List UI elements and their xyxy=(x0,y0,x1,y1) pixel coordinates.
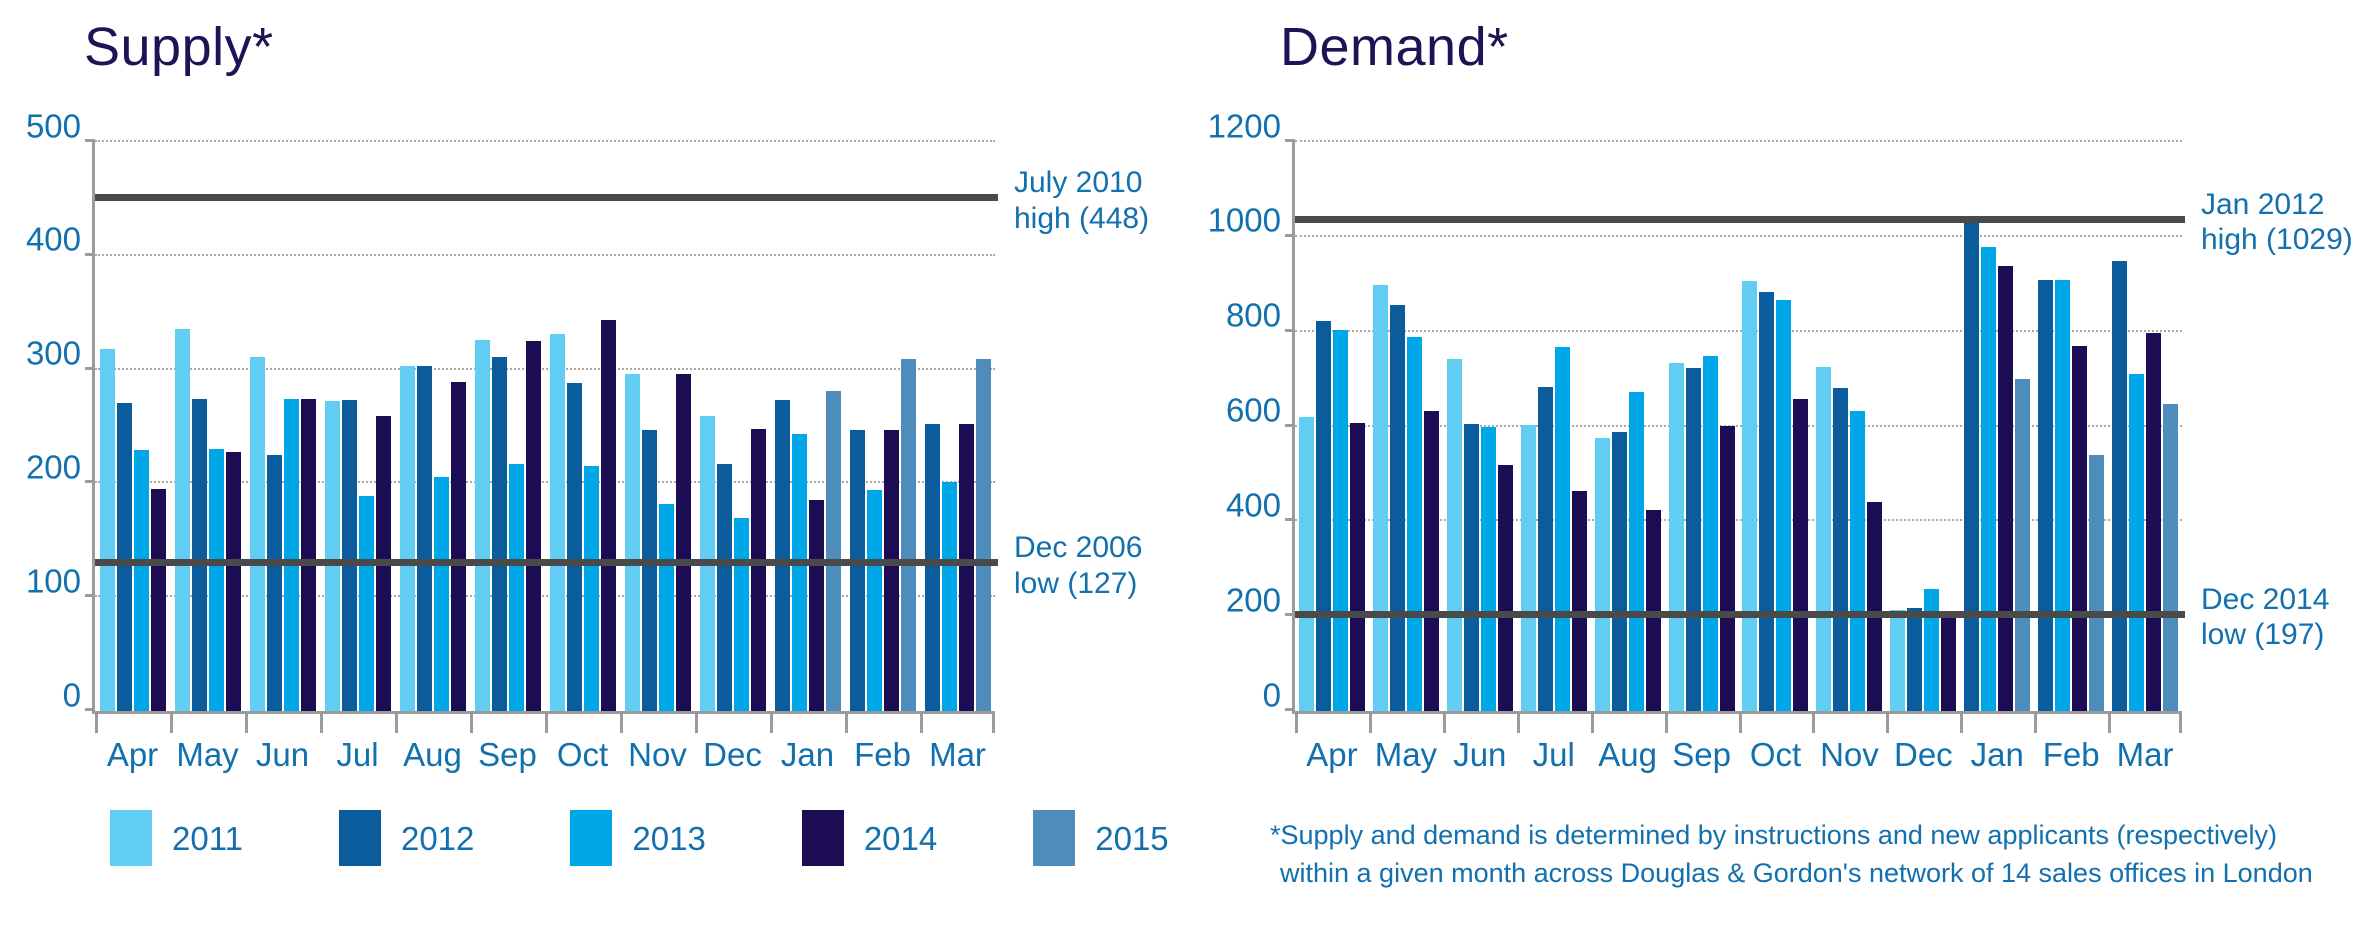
x-axis-tick-mark xyxy=(545,711,620,733)
bar-2011-Jul xyxy=(1521,425,1536,711)
bar-2011-Sep xyxy=(1669,363,1684,711)
bar-2014-Apr xyxy=(1350,423,1365,711)
y-axis-tick-label: 1200 xyxy=(1208,109,1281,142)
bar-group xyxy=(1369,142,1443,711)
bar-2013-Feb xyxy=(2055,280,2070,711)
bar-2012-Dec xyxy=(1907,608,1922,711)
bar-group xyxy=(1591,142,1665,711)
bar-2012-Aug xyxy=(1612,432,1627,711)
charts-page: Supply* 0100200300400500 AprMayJunJulAug… xyxy=(0,0,2357,952)
bar-group xyxy=(1960,142,2034,711)
bar-group xyxy=(920,142,995,711)
bar-2013-Oct xyxy=(1776,300,1791,711)
supply-ref-high-label: July 2010 high (448) xyxy=(1014,165,1149,236)
y-axis-tick-label: 100 xyxy=(26,564,81,597)
legend-swatch-2015 xyxy=(1033,810,1075,866)
legend-swatch-2013 xyxy=(570,810,612,866)
y-axis-tick-label: 400 xyxy=(26,223,81,256)
x-axis-tick-mark xyxy=(245,711,320,733)
bar-2014-Dec xyxy=(751,429,766,711)
x-axis-tick-mark xyxy=(770,711,845,733)
supply-x-labels: AprMayJunJulAugSepOctNovDecJanFebMar xyxy=(95,737,995,773)
supply-chart-title: Supply* xyxy=(84,16,274,78)
legend-swatch-2011 xyxy=(110,810,152,866)
demand-chart-title: Demand* xyxy=(1280,16,1509,78)
demand-ref-low-line2: low (197) xyxy=(2201,618,2324,651)
bar-2014-Nov xyxy=(676,374,691,711)
bar-2012-Nov xyxy=(1833,388,1848,711)
bar-2013-Nov xyxy=(1850,411,1865,711)
bar-2011-Sep xyxy=(475,340,490,711)
x-axis-tick-mark xyxy=(1295,711,1369,733)
bar-group xyxy=(1443,142,1517,711)
bar-2011-Dec xyxy=(1890,610,1905,711)
y-axis-tick-mark xyxy=(85,253,95,256)
x-axis-tick-mark xyxy=(395,711,470,733)
y-axis-tick-mark xyxy=(85,708,95,711)
supply-ref-low-line2: low (127) xyxy=(1014,567,1137,600)
x-axis-tick-mark xyxy=(170,711,245,733)
x-axis-label-Apr: Apr xyxy=(1295,737,1369,773)
x-axis-label-Sep: Sep xyxy=(470,737,545,773)
legend-label-2014: 2014 xyxy=(864,822,937,855)
x-axis-tick-mark xyxy=(1886,711,1960,733)
bar-2014-May xyxy=(1424,411,1439,711)
supply-bar-groups xyxy=(95,142,995,711)
y-axis-tick-mark xyxy=(85,594,95,597)
bar-2012-Sep xyxy=(1686,368,1701,711)
x-axis-tick-mark xyxy=(2108,711,2182,733)
supply-panel: Supply* 0100200300400500 AprMayJunJulAug… xyxy=(0,0,1180,952)
y-axis-tick-mark xyxy=(1285,518,1295,521)
x-axis-label-Jun: Jun xyxy=(245,737,320,773)
bar-2015-Mar xyxy=(2163,404,2178,711)
x-axis-tick-mark xyxy=(695,711,770,733)
legend-swatch-2012 xyxy=(339,810,381,866)
bar-2011-Jul xyxy=(325,401,340,711)
y-axis-tick-label: 800 xyxy=(1226,299,1281,332)
supply-plot-area: 0100200300400500 AprMayJunJulAugSepOctNo… xyxy=(92,142,995,714)
legend-item-2013[interactable]: 2013 xyxy=(570,810,705,866)
bar-2013-Mar xyxy=(2129,374,2144,711)
x-axis-tick-mark xyxy=(2034,711,2108,733)
bar-2013-Sep xyxy=(1703,356,1718,711)
x-axis-label-May: May xyxy=(1369,737,1443,773)
bar-group xyxy=(245,142,320,711)
bar-group xyxy=(320,142,395,711)
bar-group xyxy=(770,142,845,711)
bar-2015-Jan xyxy=(2015,379,2030,711)
legend-item-2011[interactable]: 2011 xyxy=(110,810,243,866)
bar-group xyxy=(1886,142,1960,711)
x-axis-tick-mark xyxy=(1591,711,1665,733)
bar-2013-Apr xyxy=(134,450,149,711)
supply-ref-low-label: Dec 2006 low (127) xyxy=(1014,530,1142,601)
demand-bar-groups xyxy=(1295,142,2182,711)
x-axis-label-Oct: Oct xyxy=(545,737,620,773)
x-axis-tick-mark xyxy=(470,711,545,733)
y-axis-tick-label: 300 xyxy=(26,337,81,370)
x-axis-tick-mark xyxy=(845,711,920,733)
bar-group xyxy=(1739,142,1813,711)
demand-ref-high-label: Jan 2012 high (1029) xyxy=(2201,187,2353,258)
bar-2013-May xyxy=(209,449,224,711)
bar-2014-Jan xyxy=(1998,266,2013,711)
bar-2011-Nov xyxy=(625,374,640,711)
legend-item-2014[interactable]: 2014 xyxy=(802,810,937,866)
bar-2014-Sep xyxy=(526,341,541,711)
legend-item-2012[interactable]: 2012 xyxy=(339,810,474,866)
x-axis-label-Jan: Jan xyxy=(1960,737,2034,773)
bar-2011-Jun xyxy=(1447,359,1462,711)
bar-2013-Aug xyxy=(434,477,449,711)
bar-2012-Jan xyxy=(775,400,790,711)
demand-ref-high-line2: high (1029) xyxy=(2201,223,2353,256)
bar-2011-Apr xyxy=(1299,417,1314,711)
supply-ref-high-line2: high (448) xyxy=(1014,202,1149,235)
x-axis-label-Dec: Dec xyxy=(1886,737,1960,773)
bar-group xyxy=(1812,142,1886,711)
x-axis-label-Feb: Feb xyxy=(2034,737,2108,773)
bar-group xyxy=(1517,142,1591,711)
bar-2012-Jun xyxy=(267,455,282,711)
year-legend: 20112012201320142015 xyxy=(110,810,1265,866)
bar-group xyxy=(95,142,170,711)
bar-2013-Dec xyxy=(734,518,749,711)
bar-2012-Jan xyxy=(1964,223,1979,711)
bar-group xyxy=(2034,142,2108,711)
bar-2013-Jul xyxy=(1555,347,1570,711)
bar-2014-Dec xyxy=(1941,618,1956,711)
bar-group xyxy=(395,142,470,711)
y-axis-tick-mark xyxy=(85,480,95,483)
x-axis-label-Dec: Dec xyxy=(695,737,770,773)
bar-2012-Dec xyxy=(717,464,732,711)
legend-label-2011: 2011 xyxy=(172,822,243,855)
y-axis-tick-mark xyxy=(1285,234,1295,237)
bar-2013-Sep xyxy=(509,464,524,711)
bar-2012-Aug xyxy=(417,366,432,711)
bar-2012-Jul xyxy=(342,400,357,711)
legend-swatch-2014 xyxy=(802,810,844,866)
legend-label-2012: 2012 xyxy=(401,822,474,855)
x-axis-tick-mark xyxy=(1369,711,1443,733)
y-axis-tick-label: 0 xyxy=(1263,678,1281,711)
supply-reference-line-high xyxy=(95,194,998,201)
x-axis-label-May: May xyxy=(170,737,245,773)
x-axis-tick-mark xyxy=(95,711,170,733)
demand-reference-line-low xyxy=(1295,611,2185,618)
supply-ref-high-line1: July 2010 xyxy=(1014,166,1142,199)
bar-2014-Jan xyxy=(809,500,824,711)
bar-2013-Feb xyxy=(867,490,882,711)
y-axis-tick-mark xyxy=(1285,708,1295,711)
bar-2015-Feb xyxy=(901,359,916,711)
bar-group xyxy=(2108,142,2182,711)
bar-2015-Mar xyxy=(976,359,991,711)
bar-group xyxy=(170,142,245,711)
x-axis-label-Jun: Jun xyxy=(1443,737,1517,773)
demand-x-labels: AprMayJunJulAugSepOctNovDecJanFebMar xyxy=(1295,737,2182,773)
bar-2014-Oct xyxy=(1793,399,1808,711)
bar-2012-Mar xyxy=(2112,261,2127,711)
y-axis-tick-label: 200 xyxy=(26,450,81,483)
supply-ref-low-line1: Dec 2006 xyxy=(1014,531,1142,564)
bar-2014-Jun xyxy=(301,399,316,711)
y-axis-tick-label: 0 xyxy=(63,678,81,711)
bar-2011-Aug xyxy=(400,366,415,711)
bar-2011-Nov xyxy=(1816,367,1831,711)
y-axis-tick-label: 500 xyxy=(26,109,81,142)
bar-2014-Nov xyxy=(1867,502,1882,711)
bar-2012-May xyxy=(192,399,207,711)
bar-2013-Apr xyxy=(1333,330,1348,711)
y-axis-tick-mark xyxy=(1285,139,1295,142)
bar-2012-Oct xyxy=(567,383,582,711)
bar-2012-Apr xyxy=(1316,321,1331,711)
bar-2012-Mar xyxy=(925,424,940,711)
bar-2015-Feb xyxy=(2089,455,2104,711)
bar-2014-Jun xyxy=(1498,465,1513,711)
footnote-line-2: within a given month across Douglas & Go… xyxy=(1270,854,2340,892)
x-axis-tick-mark xyxy=(1960,711,2034,733)
x-axis-tick-mark xyxy=(920,711,995,733)
bar-2012-Sep xyxy=(492,357,507,711)
x-axis-tick-mark xyxy=(1517,711,1591,733)
x-axis-label-Jul: Jul xyxy=(320,737,395,773)
bar-2011-Jun xyxy=(250,357,265,711)
y-axis-tick-label: 400 xyxy=(1226,488,1281,521)
bar-2014-Mar xyxy=(959,424,974,711)
footnote-line-1: *Supply and demand is determined by inst… xyxy=(1270,820,2277,850)
x-axis-label-Aug: Aug xyxy=(395,737,470,773)
bar-2012-Nov xyxy=(642,430,657,711)
bar-group xyxy=(845,142,920,711)
x-axis-label-Nov: Nov xyxy=(620,737,695,773)
bar-2013-May xyxy=(1407,337,1422,711)
x-axis-tick-mark xyxy=(620,711,695,733)
bar-2014-May xyxy=(226,452,241,711)
bar-2014-Aug xyxy=(451,382,466,711)
bar-group xyxy=(1665,142,1739,711)
y-axis-tick-mark xyxy=(1285,424,1295,427)
bar-2013-Mar xyxy=(942,482,957,711)
x-axis-label-Oct: Oct xyxy=(1739,737,1813,773)
bar-2012-Feb xyxy=(2038,280,2053,711)
bar-2011-May xyxy=(175,329,190,711)
bar-2014-Mar xyxy=(2146,333,2161,711)
y-axis-tick-label: 200 xyxy=(1226,583,1281,616)
demand-ref-high-line1: Jan 2012 xyxy=(2201,188,2324,221)
bar-2014-Apr xyxy=(151,489,166,711)
x-axis-tick-mark xyxy=(1665,711,1739,733)
bar-2011-May xyxy=(1373,285,1388,711)
x-axis-label-Jan: Jan xyxy=(770,737,845,773)
x-axis-label-Jul: Jul xyxy=(1517,737,1591,773)
bar-2011-Apr xyxy=(100,349,115,711)
bar-2014-Feb xyxy=(884,430,899,711)
y-axis-tick-label: 600 xyxy=(1226,394,1281,427)
footnote: *Supply and demand is determined by inst… xyxy=(1270,816,2340,893)
x-axis-label-Mar: Mar xyxy=(920,737,995,773)
bar-2012-Oct xyxy=(1759,292,1774,711)
bar-group xyxy=(620,142,695,711)
bar-2013-Aug xyxy=(1629,392,1644,711)
bar-2014-Sep xyxy=(1720,426,1735,711)
legend-label-2015: 2015 xyxy=(1095,822,1168,855)
bar-group xyxy=(1295,142,1369,711)
bar-2012-Feb xyxy=(850,430,865,711)
x-axis-tick-mark xyxy=(1443,711,1517,733)
bar-2013-Nov xyxy=(659,504,674,711)
demand-x-ticks xyxy=(1295,711,2182,733)
bar-2013-Jun xyxy=(1481,427,1496,711)
bar-2013-Dec xyxy=(1924,589,1939,711)
bar-2011-Aug xyxy=(1595,438,1610,711)
bar-2015-Jan xyxy=(826,391,841,711)
bar-group xyxy=(695,142,770,711)
demand-reference-line-high xyxy=(1295,216,2185,223)
bar-2013-Jun xyxy=(284,399,299,711)
y-axis-tick-label: 1000 xyxy=(1208,204,1281,237)
bar-2013-Jan xyxy=(792,434,807,711)
demand-ref-low-line1: Dec 2014 xyxy=(2201,583,2329,616)
x-axis-label-Apr: Apr xyxy=(95,737,170,773)
bar-2014-Jul xyxy=(1572,491,1587,711)
x-axis-label-Mar: Mar xyxy=(2108,737,2182,773)
x-axis-tick-mark xyxy=(320,711,395,733)
bar-2014-Feb xyxy=(2072,346,2087,711)
x-axis-label-Feb: Feb xyxy=(845,737,920,773)
bar-2012-Apr xyxy=(117,403,132,711)
bar-group xyxy=(545,142,620,711)
bar-2012-Jun xyxy=(1464,424,1479,711)
demand-panel: Demand* 020040060080010001200 AprMayJunJ… xyxy=(1180,0,2357,952)
legend-item-2015[interactable]: 2015 xyxy=(1033,810,1168,866)
y-axis-tick-mark xyxy=(1285,613,1295,616)
x-axis-tick-mark xyxy=(1739,711,1813,733)
x-axis-label-Nov: Nov xyxy=(1812,737,1886,773)
bar-group xyxy=(470,142,545,711)
supply-x-ticks xyxy=(95,711,995,733)
bar-2011-Oct xyxy=(550,334,565,711)
bar-2012-May xyxy=(1390,305,1405,711)
demand-plot-area: 020040060080010001200 AprMayJunJulAugSep… xyxy=(1292,142,2182,714)
supply-reference-line-low xyxy=(95,559,998,566)
bar-2013-Jan xyxy=(1981,247,1996,711)
legend-label-2013: 2013 xyxy=(632,822,705,855)
bar-2011-Oct xyxy=(1742,281,1757,711)
bar-2014-Oct xyxy=(601,320,616,711)
x-axis-label-Sep: Sep xyxy=(1665,737,1739,773)
demand-ref-low-label: Dec 2014 low (197) xyxy=(2201,582,2329,653)
y-axis-tick-mark xyxy=(85,367,95,370)
bar-2013-Oct xyxy=(584,466,599,711)
x-axis-tick-mark xyxy=(1812,711,1886,733)
y-axis-tick-mark xyxy=(1285,329,1295,332)
bar-2012-Jul xyxy=(1538,387,1553,711)
y-axis-tick-mark xyxy=(85,139,95,142)
x-axis-label-Aug: Aug xyxy=(1591,737,1665,773)
bar-2013-Jul xyxy=(359,496,374,711)
